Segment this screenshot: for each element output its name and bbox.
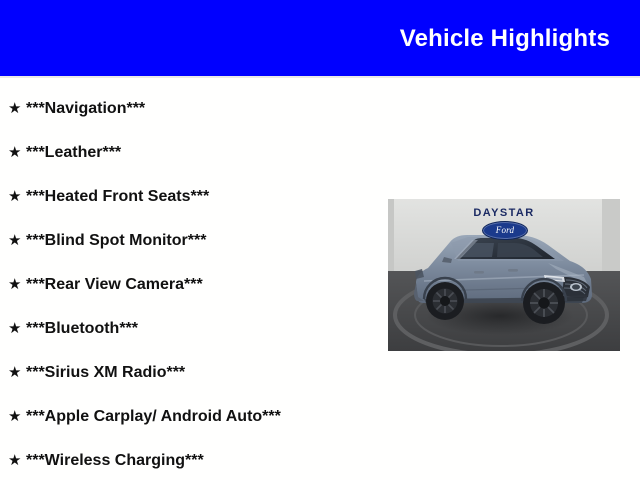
- star-icon: ★: [8, 233, 26, 248]
- dealer-name-text: DAYSTAR: [388, 207, 620, 219]
- list-item-label: ***Rear View Camera***: [26, 275, 203, 294]
- ford-logo-label: Ford: [483, 225, 527, 235]
- list-item: ★ ***Apple Carplay/ Android Auto***: [0, 394, 380, 438]
- star-icon: ★: [8, 365, 26, 380]
- list-item-label: ***Navigation***: [26, 99, 145, 118]
- list-item-label: ***Wireless Charging***: [26, 451, 204, 470]
- vehicle-highlights-page: Vehicle Highlights ★ ***Navigation*** ★ …: [0, 0, 640, 480]
- vehicle-highlights-list: ★ ***Navigation*** ★ ***Leather*** ★ ***…: [0, 86, 380, 482]
- list-item: ★ ***Bluetooth***: [0, 306, 380, 350]
- star-icon: ★: [8, 453, 26, 468]
- star-icon: ★: [8, 321, 26, 336]
- list-item: ★ ***Heated Front Seats***: [0, 174, 380, 218]
- list-item: ★ ***Blind Spot Monitor***: [0, 218, 380, 262]
- list-item: ★ ***Navigation***: [0, 86, 380, 130]
- list-item: ★ ***Wireless Charging***: [0, 438, 380, 482]
- list-item-label: ***Blind Spot Monitor***: [26, 231, 206, 250]
- page-header: Vehicle Highlights: [0, 0, 640, 76]
- header-divider: [0, 76, 640, 78]
- star-icon: ★: [8, 145, 26, 160]
- page-title: Vehicle Highlights: [400, 25, 610, 53]
- list-item-label: ***Sirius XM Radio***: [26, 363, 185, 382]
- star-icon: ★: [8, 189, 26, 204]
- list-item-label: ***Leather***: [26, 143, 121, 162]
- ford-logo-icon: Ford: [482, 221, 528, 240]
- list-item: ★ ***Leather***: [0, 130, 380, 174]
- list-item-label: ***Heated Front Seats***: [26, 187, 209, 206]
- vehicle-photo: DAYSTAR Ford: [388, 199, 620, 351]
- list-item-label: ***Apple Carplay/ Android Auto***: [26, 407, 281, 426]
- star-icon: ★: [8, 101, 26, 116]
- list-item-label: ***Bluetooth***: [26, 319, 138, 338]
- star-icon: ★: [8, 277, 26, 292]
- list-item: ★ ***Rear View Camera***: [0, 262, 380, 306]
- list-item: ★ ***Sirius XM Radio***: [0, 350, 380, 394]
- star-icon: ★: [8, 409, 26, 424]
